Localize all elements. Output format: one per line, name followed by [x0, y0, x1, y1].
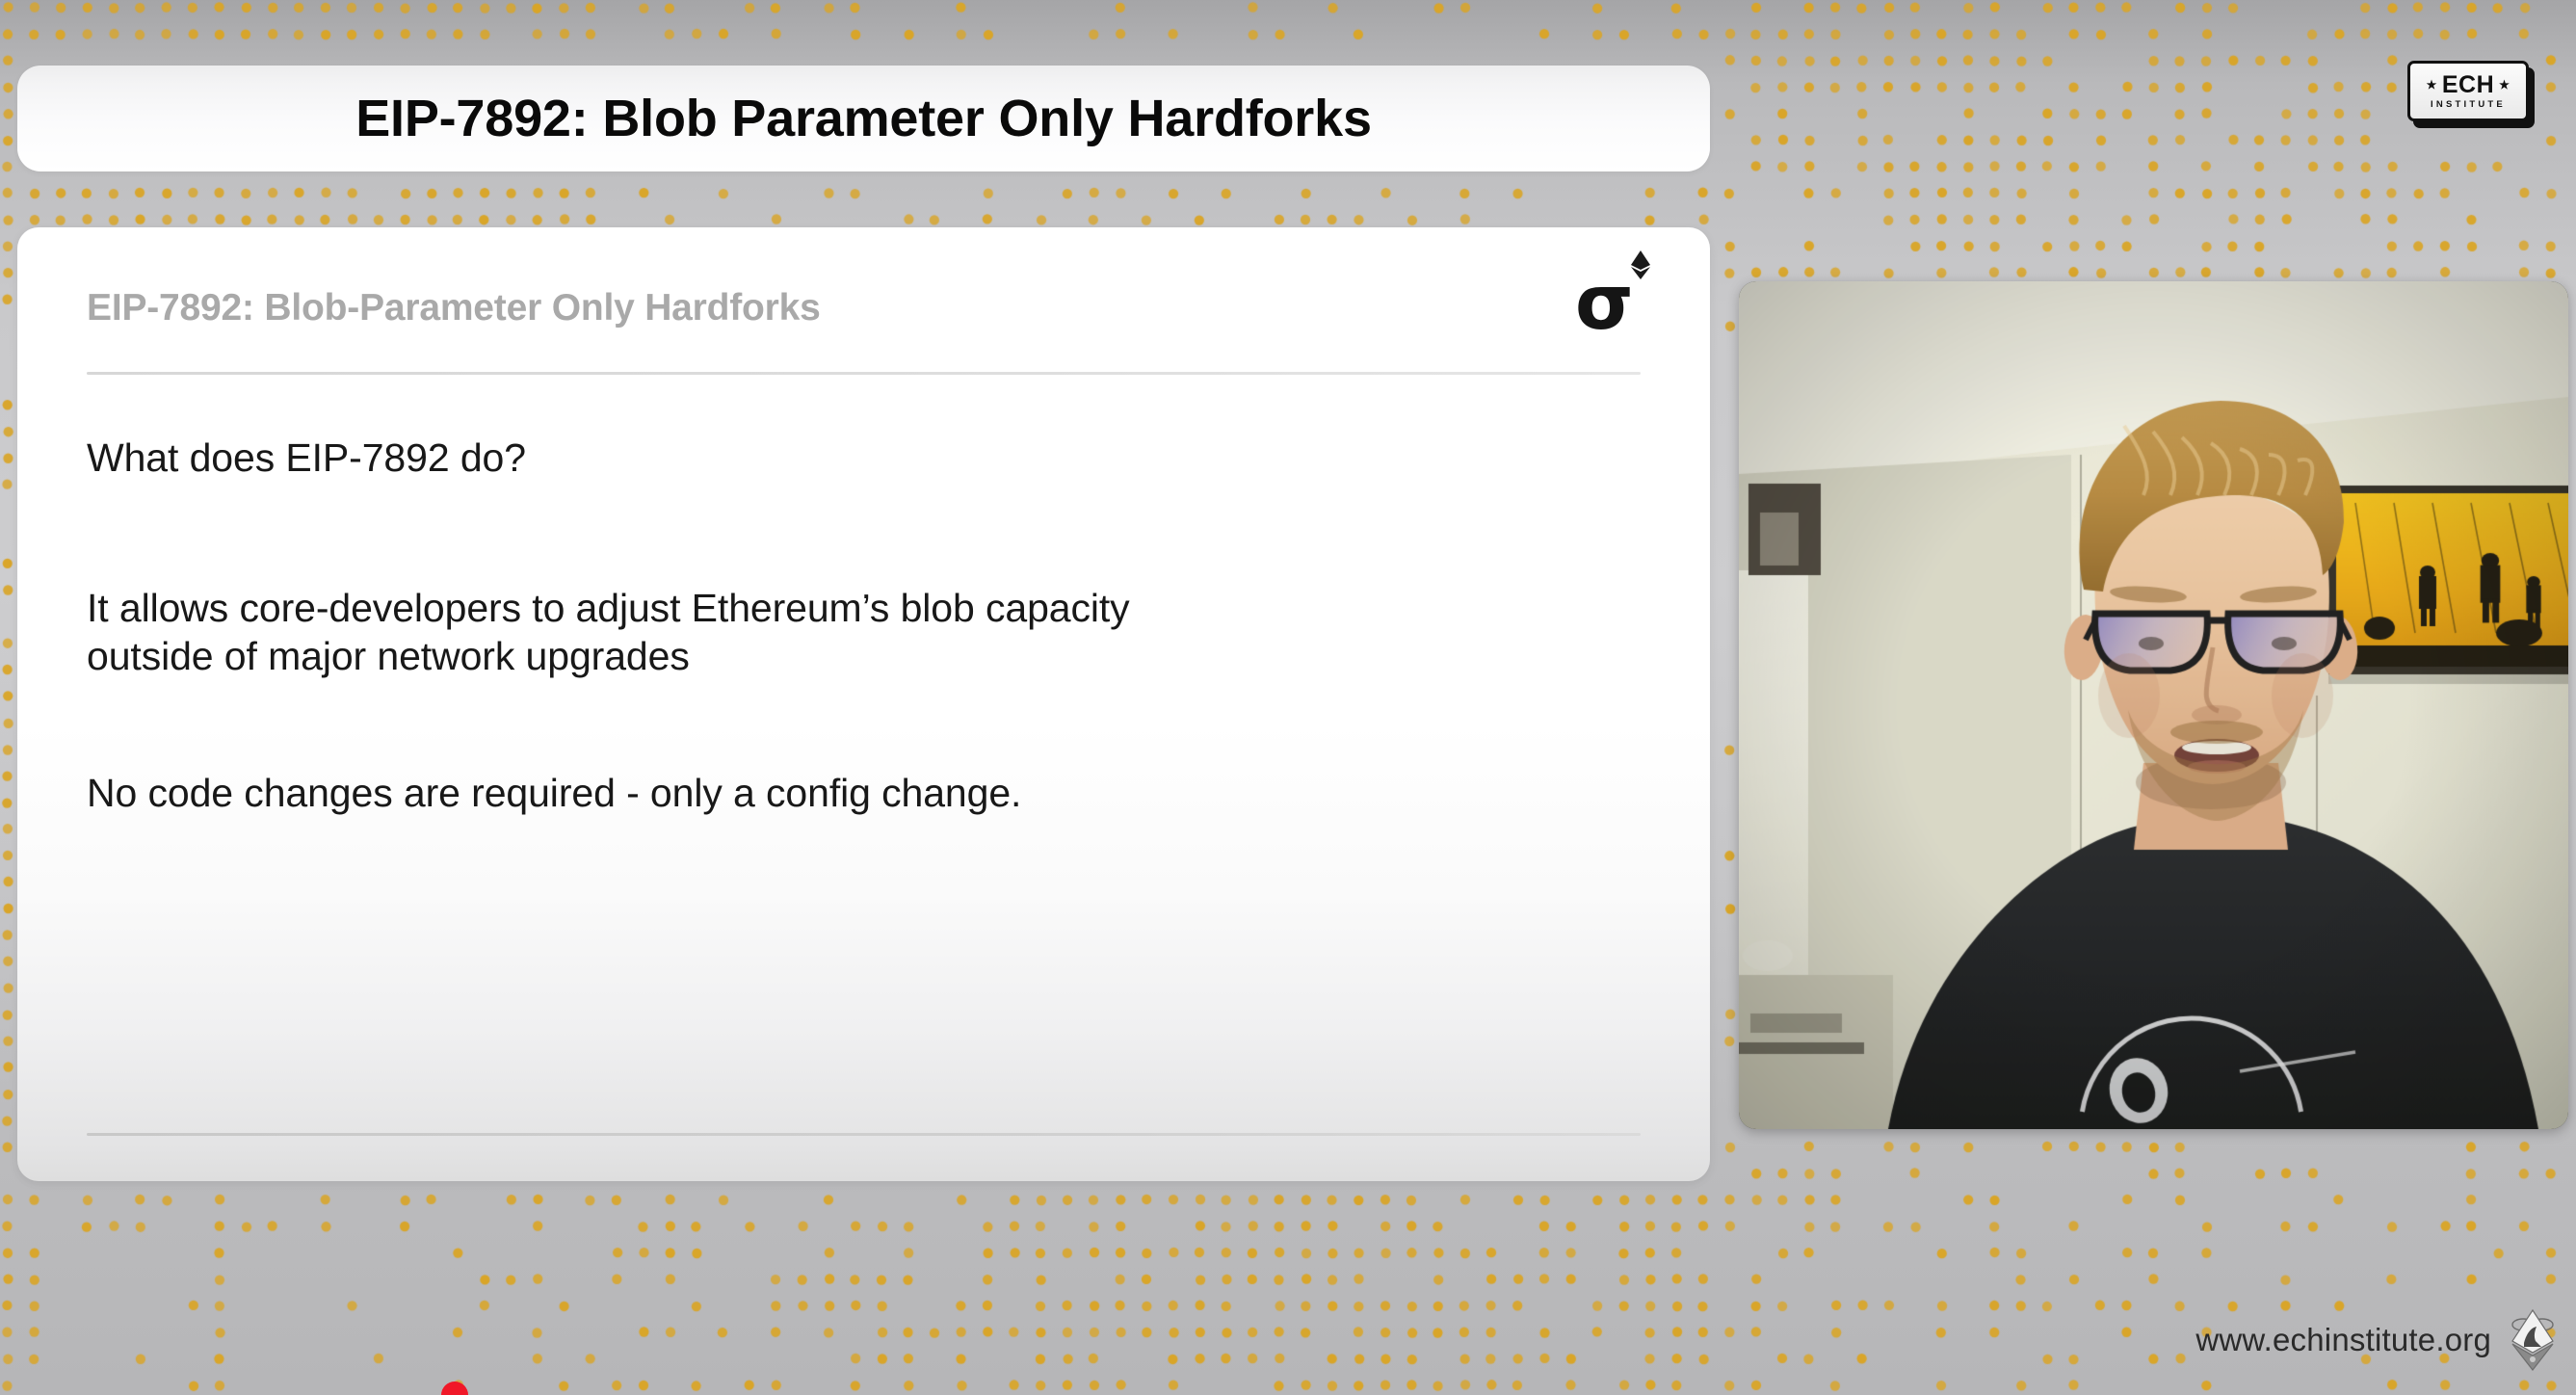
- body-note: No code changes are required - only a co…: [87, 769, 1623, 817]
- slide-subtitle: EIP-7892: Blob-Parameter Only Hardforks: [87, 287, 821, 329]
- body-paragraph-line-2: outside of major network upgrades: [87, 632, 1623, 680]
- slide-footer-divider: [87, 1133, 1641, 1136]
- slide-title-banner: EIP-7892: Blob Parameter Only Hardforks: [17, 66, 1710, 171]
- recording-indicator-dot: [441, 1382, 468, 1395]
- ech-institute-logo: ★ ECH ★ INSTITUTE: [2407, 61, 2535, 126]
- slide-header: EIP-7892: Blob-Parameter Only Hardforks …: [87, 287, 1641, 333]
- logo-subtitle: INSTITUTE: [2431, 100, 2506, 110]
- sigma-glyph: σ: [1575, 266, 1634, 341]
- footer: www.echinstitute.org: [2195, 1308, 2555, 1372]
- presentation-stage: EIP-7892: Blob Parameter Only Hardforks …: [0, 0, 2576, 1395]
- slide-body: What does EIP-7892 do? It allows core-de…: [87, 434, 1623, 817]
- spacer: [87, 680, 1623, 769]
- sigma-eth-icon: σ: [1575, 264, 1644, 333]
- spacer: [87, 482, 1623, 584]
- star-icon-left: ★: [2427, 79, 2437, 91]
- page-title: EIP-7892: Blob Parameter Only Hardforks: [355, 89, 1372, 148]
- slide-content-card: EIP-7892: Blob-Parameter Only Hardforks …: [17, 227, 1710, 1181]
- ech-diamond-icon: [2510, 1308, 2555, 1372]
- body-paragraph-line-1: It allows core-developers to adjust Ethe…: [87, 584, 1623, 632]
- footer-url[interactable]: www.echinstitute.org: [2195, 1322, 2491, 1358]
- speaker-webcam-video[interactable]: [1739, 281, 2568, 1129]
- logo-wordmark: ★ ECH ★: [2427, 73, 2510, 97]
- ethereum-diamond-icon: [1631, 250, 1650, 279]
- logo-plate: ★ ECH ★ INSTITUTE: [2407, 61, 2529, 121]
- star-icon-right: ★: [2499, 79, 2510, 91]
- logo-name: ECH: [2442, 73, 2494, 97]
- body-question: What does EIP-7892 do?: [87, 434, 1623, 482]
- slide-header-divider: [87, 372, 1641, 375]
